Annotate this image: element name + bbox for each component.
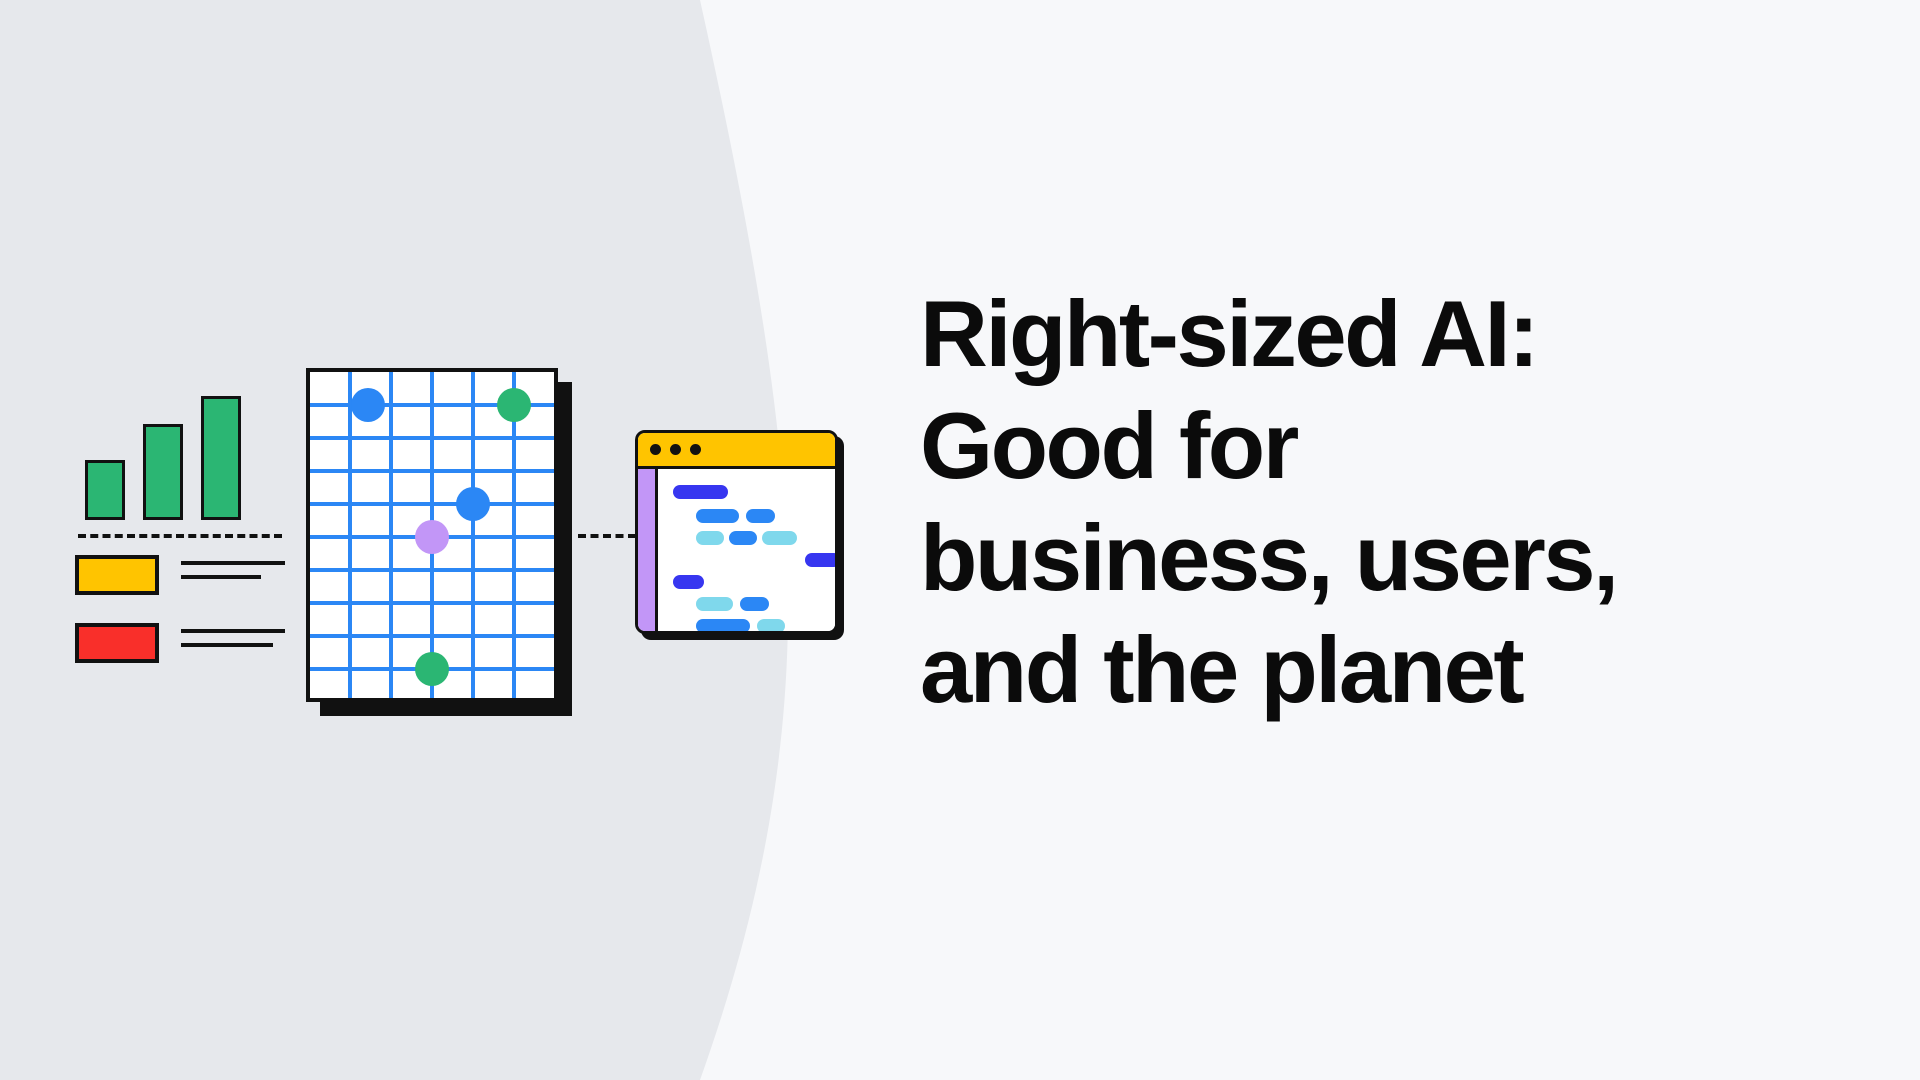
hero-banner: Right-sized AI: Good for business, users… bbox=[0, 0, 1920, 1080]
code-bar bbox=[696, 531, 724, 545]
status-legend bbox=[75, 555, 285, 691]
page-title: Right-sized AI: Good for business, users… bbox=[920, 278, 1800, 725]
window-dot-3[interactable] bbox=[690, 444, 701, 455]
code-window-body bbox=[661, 469, 835, 631]
legend-text-line bbox=[181, 643, 273, 647]
code-bar bbox=[673, 575, 704, 589]
bar-1 bbox=[85, 460, 125, 520]
legend-row bbox=[75, 555, 285, 595]
code-bar bbox=[696, 509, 739, 523]
legend-text-line bbox=[181, 575, 261, 579]
legend-text-placeholder bbox=[181, 629, 285, 657]
legend-text-line bbox=[181, 629, 285, 633]
legend-row bbox=[75, 623, 285, 663]
data-grid-card bbox=[306, 368, 558, 702]
code-bar bbox=[805, 553, 838, 567]
code-bar bbox=[746, 509, 775, 523]
point-green-2 bbox=[415, 652, 449, 686]
grid-card-face bbox=[306, 368, 558, 702]
legend-swatch-yellow bbox=[75, 555, 159, 595]
point-green-1 bbox=[497, 388, 531, 422]
divider-dashed-line bbox=[78, 534, 282, 538]
code-editor-window bbox=[635, 430, 840, 636]
code-window-titlebar bbox=[638, 433, 835, 469]
growth-bar-chart bbox=[75, 360, 255, 520]
window-dot-2[interactable] bbox=[670, 444, 681, 455]
bar-2 bbox=[143, 424, 183, 520]
point-blue-2 bbox=[456, 487, 490, 521]
point-purple-1 bbox=[415, 520, 449, 554]
legend-text-line bbox=[181, 561, 285, 565]
legend-swatch-red bbox=[75, 623, 159, 663]
grid-to-window-dashed-line bbox=[578, 534, 636, 538]
code-window-frame bbox=[635, 430, 838, 634]
bar-3 bbox=[201, 396, 241, 520]
code-bar bbox=[740, 597, 769, 611]
point-blue-1 bbox=[351, 388, 385, 422]
code-bar bbox=[696, 619, 750, 633]
code-window-sidebar bbox=[638, 469, 658, 631]
code-bar bbox=[696, 597, 733, 611]
code-bar bbox=[762, 531, 797, 545]
code-bar bbox=[757, 619, 785, 633]
code-bar bbox=[729, 531, 757, 545]
window-dot-1[interactable] bbox=[650, 444, 661, 455]
code-bar bbox=[673, 485, 728, 499]
legend-text-placeholder bbox=[181, 561, 285, 589]
grid-lines bbox=[310, 372, 554, 698]
